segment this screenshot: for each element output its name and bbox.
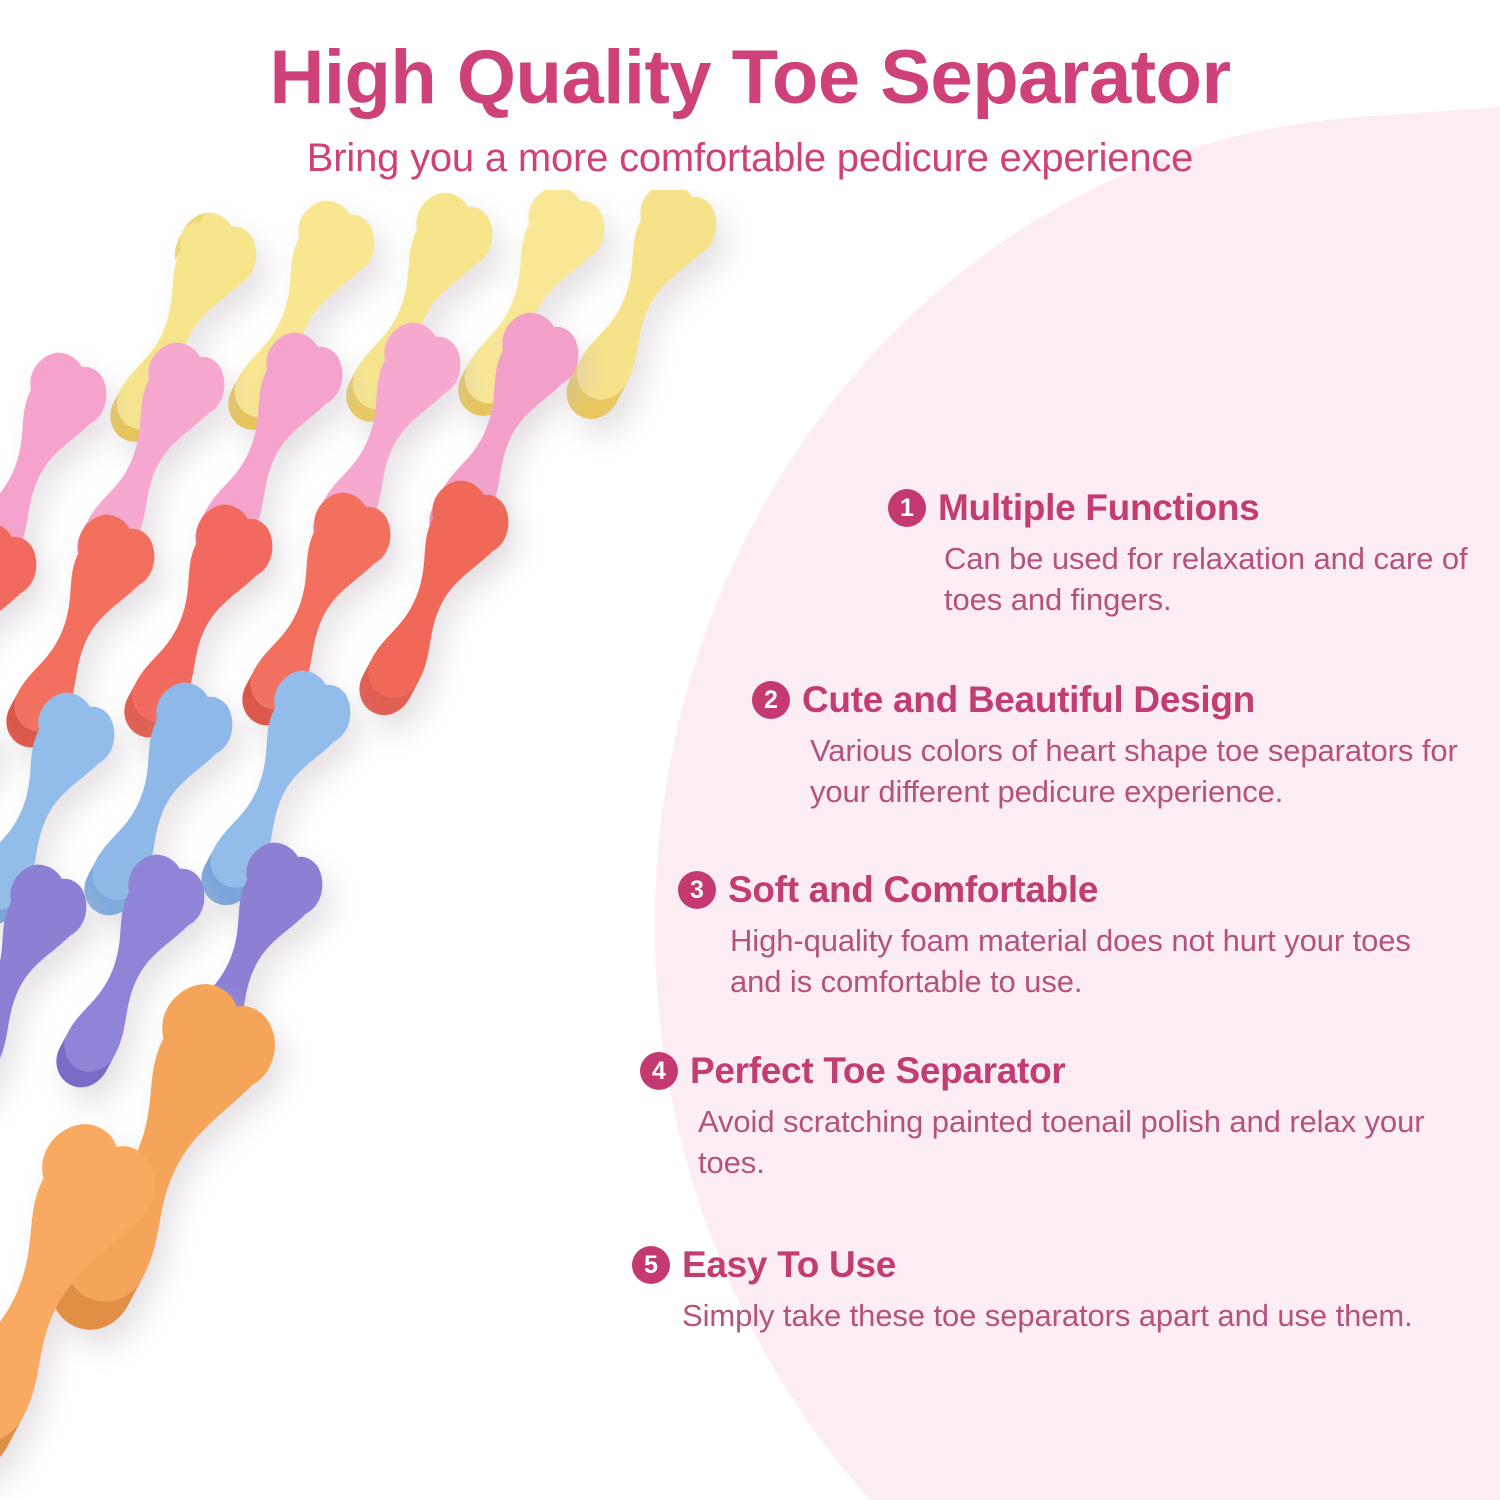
feature-item-3: 3 Soft and Comfortable High-quality foam…: [678, 866, 1468, 1002]
feature-description-2: Various colors of heart shape toe separa…: [810, 730, 1500, 812]
feature-number-badge-1: 1: [888, 489, 926, 527]
feature-title-5: Easy To Use: [682, 1241, 896, 1289]
feature-title-2: Cute and Beautiful Design: [802, 676, 1255, 724]
feature-title-3: Soft and Comfortable: [728, 866, 1098, 914]
feature-list: 1 Multiple Functions Can be used for rel…: [0, 0, 1500, 1500]
feature-heading-3: 3 Soft and Comfortable: [678, 866, 1468, 914]
feature-description-5: Simply take these toe separators apart a…: [682, 1295, 1452, 1336]
feature-heading-1: 1 Multiple Functions: [888, 484, 1498, 532]
feature-title-1: Multiple Functions: [938, 484, 1259, 532]
feature-item-2: 2 Cute and Beautiful Design Various colo…: [752, 676, 1500, 812]
page-subtitle: Bring you a more comfortable pedicure ex…: [0, 120, 1500, 184]
feature-number-badge-3: 3: [678, 871, 716, 909]
feature-number-badge-4: 4: [640, 1052, 678, 1090]
feature-description-4: Avoid scratching painted toenail polish …: [698, 1101, 1470, 1183]
feature-heading-5: 5 Easy To Use: [632, 1241, 1452, 1289]
feature-title-4: Perfect Toe Separator: [690, 1047, 1065, 1095]
feature-number-badge-2: 2: [752, 681, 790, 719]
feature-item-1: 1 Multiple Functions Can be used for rel…: [888, 484, 1498, 620]
feature-heading-2: 2 Cute and Beautiful Design: [752, 676, 1500, 724]
feature-heading-4: 4 Perfect Toe Separator: [640, 1047, 1470, 1095]
feature-description-3: High-quality foam material does not hurt…: [730, 920, 1468, 1002]
feature-item-4: 4 Perfect Toe Separator Avoid scratching…: [640, 1047, 1470, 1183]
infographic-page: High Quality Toe Separator Bring you a m…: [0, 0, 1500, 1500]
feature-number-badge-5: 5: [632, 1246, 670, 1284]
feature-item-5: 5 Easy To Use Simply take these toe sepa…: [632, 1241, 1452, 1336]
header: High Quality Toe Separator Bring you a m…: [0, 0, 1500, 184]
feature-description-1: Can be used for relaxation and care of t…: [944, 538, 1498, 620]
page-title: High Quality Toe Separator: [0, 0, 1500, 120]
